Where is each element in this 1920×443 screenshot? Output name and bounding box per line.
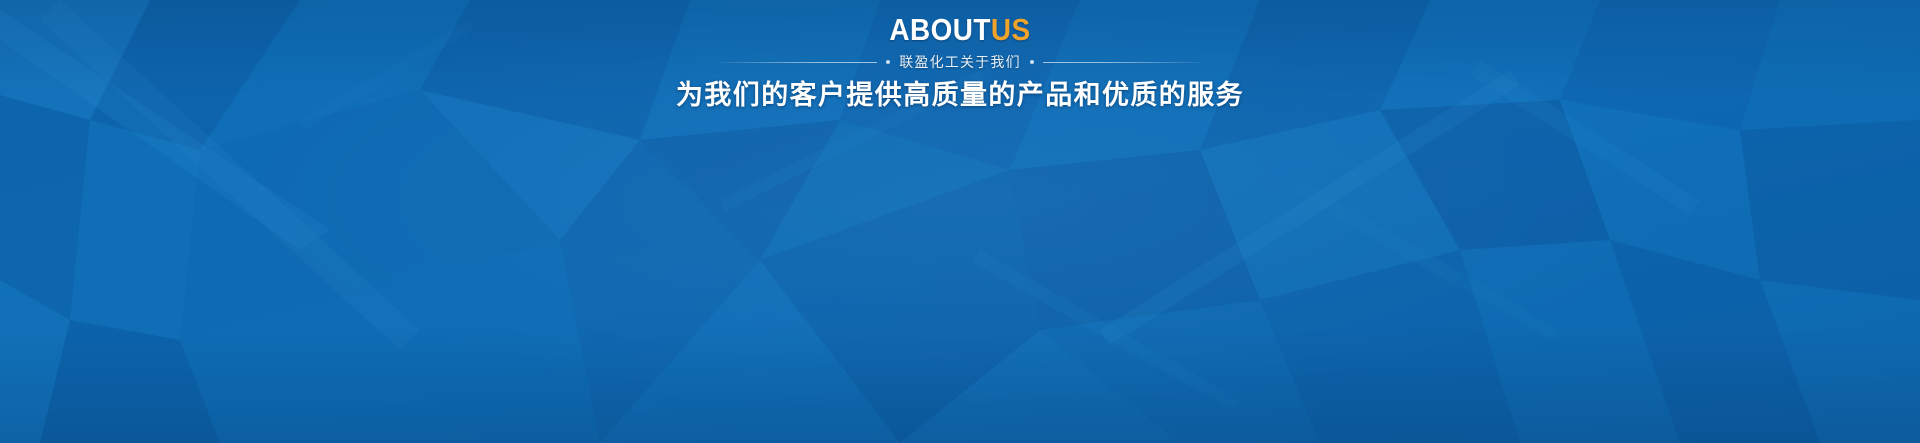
- subtitle-row: 联盈化工关于我们: [0, 52, 1920, 72]
- title-word-us: US: [991, 12, 1031, 47]
- divider-line-right: [1043, 62, 1201, 63]
- divider-line-left: [719, 62, 877, 63]
- divider-dot-left: [886, 60, 890, 64]
- page-title-english: ABOUTUS: [96, 13, 1824, 47]
- about-us-banner: ABOUTUS 联盈化工关于我们 为我们的客户提供高质量的产品和优质的服务: [0, 0, 1920, 443]
- page-subtitle-chinese: 联盈化工关于我们: [899, 53, 1021, 71]
- title-word-about: ABOUT: [889, 12, 990, 47]
- banner-header: ABOUTUS 联盈化工关于我们 为我们的客户提供高质量的产品和优质的服务: [0, 0, 1920, 112]
- page-headline-chinese: 为我们的客户提供高质量的产品和优质的服务: [0, 78, 1920, 112]
- divider-dot-right: [1030, 60, 1034, 64]
